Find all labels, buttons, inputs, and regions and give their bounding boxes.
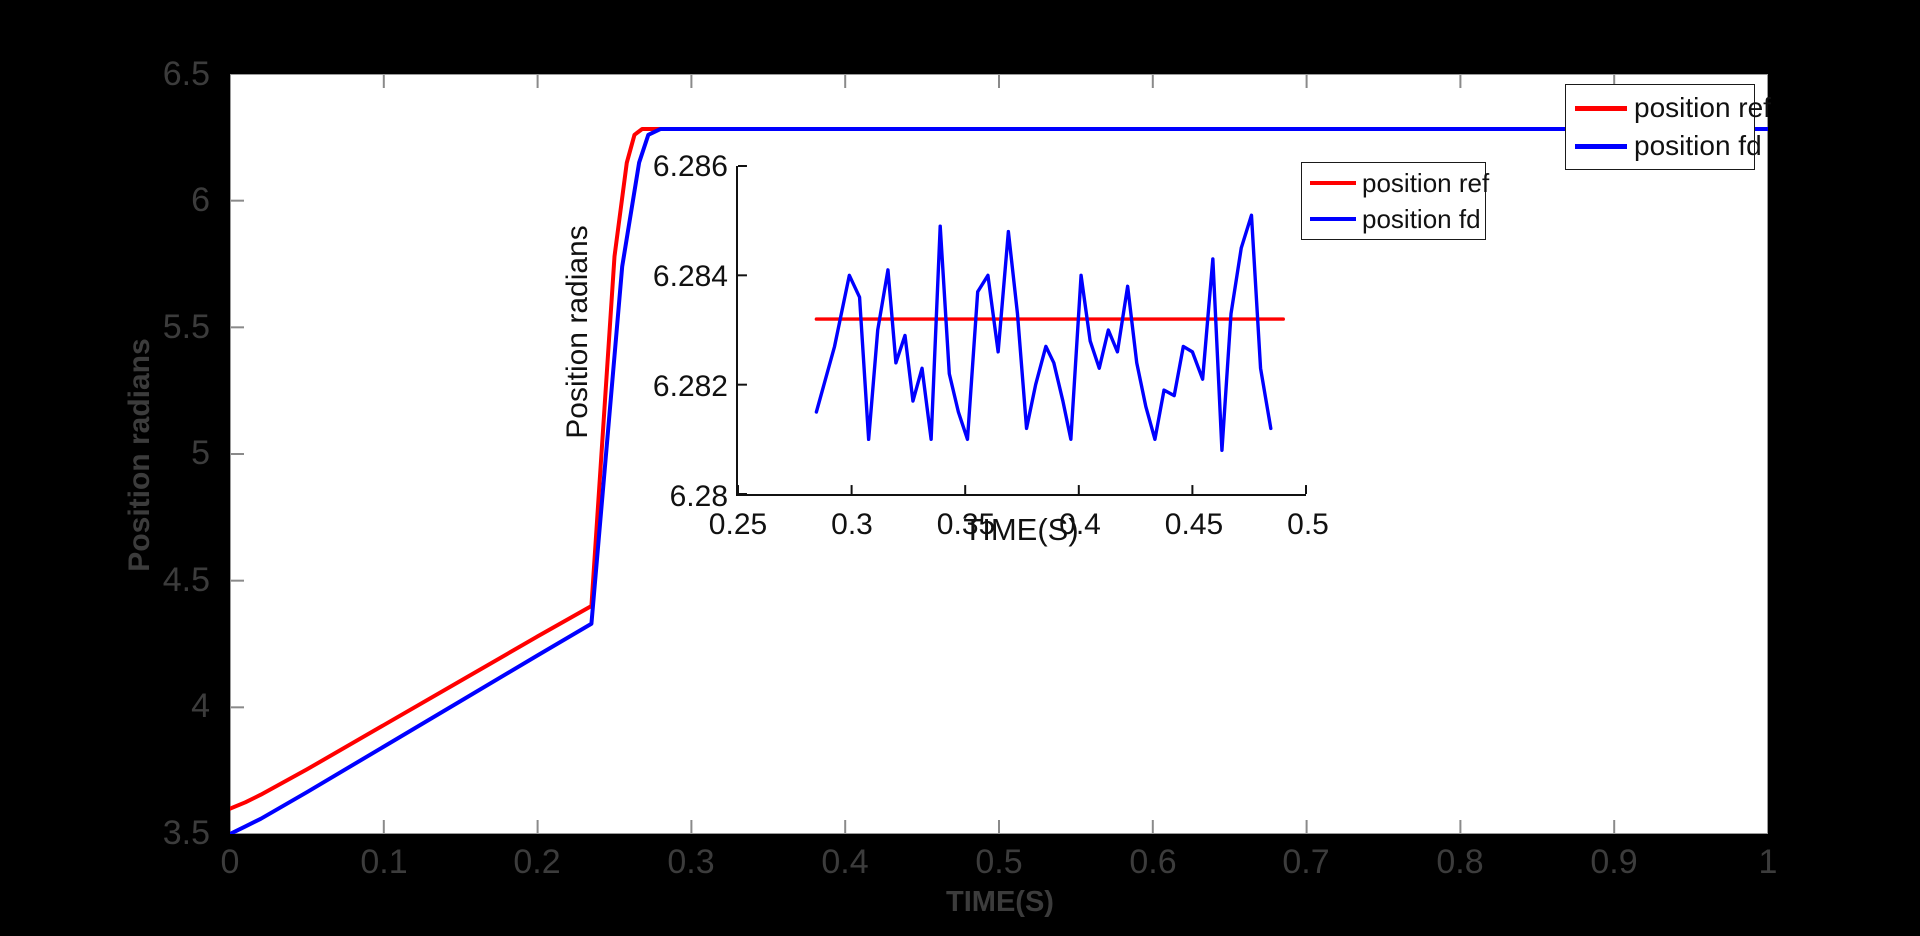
inset-y-axis-label: Position radians <box>561 225 595 438</box>
main-x-axis-label: TIME(S) <box>946 886 1054 919</box>
inset-chart: 6.286 6.284 6.282 6.28 0.25 0.3 0.35 0.4… <box>556 142 1326 562</box>
main-xtick-label: 0.5 <box>939 845 1059 879</box>
legend-swatch-blue-icon <box>1310 217 1356 221</box>
inset-xtick-label: 0.45 <box>1134 510 1254 540</box>
main-xtick-label: 0.3 <box>631 845 751 879</box>
main-xtick-label: 0.7 <box>1246 845 1366 879</box>
legend-item-position-fd[interactable]: position fd <box>1566 127 1754 165</box>
main-y-axis-label: Position radians <box>123 338 157 571</box>
main-ytick-label: 6.5 <box>90 57 210 91</box>
legend-label: position ref <box>1634 94 1771 122</box>
inset-plot-area <box>736 166 1306 496</box>
inset-legend[interactable]: position ref position fd <box>1301 162 1486 240</box>
legend-swatch-red-icon <box>1575 106 1627 111</box>
legend-label: position fd <box>1362 205 1481 233</box>
legend-swatch-blue-icon <box>1575 144 1627 149</box>
main-xtick-label: 0.9 <box>1554 845 1674 879</box>
main-xtick-label: 0.6 <box>1093 845 1213 879</box>
inset-xtick-label: 0.5 <box>1248 510 1368 540</box>
main-xtick-label: 0 <box>170 845 290 879</box>
main-xtick-label: 1 <box>1708 845 1828 879</box>
main-ytick-label: 6 <box>90 183 210 217</box>
figure-canvas: 6.5 6 5.5 5 4.5 4 3.5 0 0.1 0.2 0.3 0.4 … <box>0 0 1920 936</box>
main-xtick-label: 0.1 <box>324 845 444 879</box>
main-xtick-label: 0.8 <box>1400 845 1520 879</box>
legend-label: position fd <box>1634 132 1762 160</box>
legend-item-position-ref[interactable]: position ref <box>1566 89 1754 127</box>
inset-ytick-label: 6.28 <box>568 482 728 512</box>
main-legend[interactable]: position ref position fd <box>1565 84 1755 170</box>
inset-x-axis-label: TIME(S) <box>963 512 1078 548</box>
main-xtick-label: 0.2 <box>477 845 597 879</box>
inset-legend-item-position-fd[interactable]: position fd <box>1302 201 1485 237</box>
inset-plot-svg <box>738 166 1306 494</box>
main-xtick-label: 0.4 <box>785 845 905 879</box>
legend-swatch-red-icon <box>1310 181 1356 185</box>
inset-legend-item-position-ref[interactable]: position ref <box>1302 165 1485 201</box>
main-ytick-label: 4 <box>90 689 210 723</box>
legend-label: position ref <box>1362 169 1489 197</box>
inset-ytick-label: 6.286 <box>568 152 728 182</box>
inset-xtick-label: 0.25 <box>678 510 798 540</box>
inset-xtick-label: 0.3 <box>792 510 912 540</box>
